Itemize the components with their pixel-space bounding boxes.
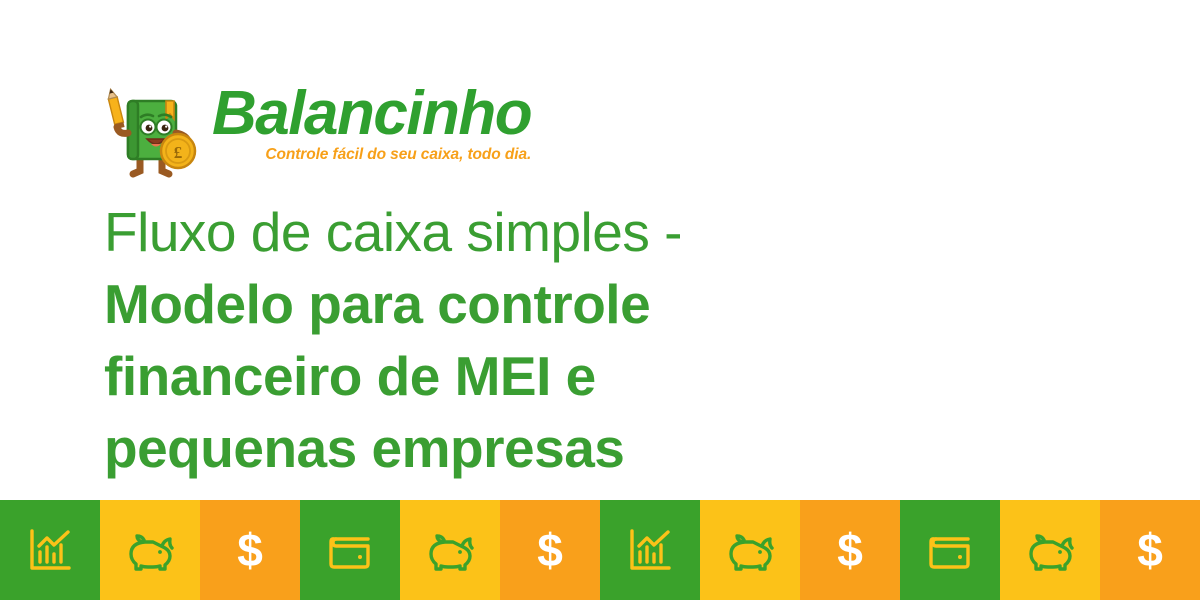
strip-tile-1 [100,500,200,600]
strip-tile-5: $ [500,500,600,600]
strip-tile-4 [400,500,500,600]
piggy-bank-icon [1024,524,1076,576]
strip-tile-2: $ [200,500,300,600]
strip-tile-0 [0,500,100,600]
wallet-icon [324,524,376,576]
wallet-icon [924,524,976,576]
wordmark-block: Balancinho Controle fácil do seu caixa, … [212,75,531,164]
dollar-sign-icon: $ [237,527,263,573]
page-title: Fluxo de caixa simples - Modelo para con… [104,196,824,484]
brand-lockup: £ Balancinho Controle fácil do seu caixa… [100,75,531,183]
strip-tile-8: $ [800,500,900,600]
headline-line-4: pequenas empresas [104,412,824,484]
strip-tile-3 [300,500,400,600]
brand-name: Balancinho [212,83,531,145]
dollar-sign-icon: $ [837,527,863,573]
poster-canvas: £ Balancinho Controle fácil do seu caixa… [0,0,1200,600]
bar-chart-icon [24,524,76,576]
strip-tile-7 [700,500,800,600]
piggy-bank-icon [724,524,776,576]
strip-tile-6 [600,500,700,600]
piggy-bank-icon [124,524,176,576]
dollar-sign-icon: $ [1137,527,1163,573]
headline-line-2: Modelo para controle [104,268,824,340]
svg-text:£: £ [174,143,183,162]
strip-tile-10 [1000,500,1100,600]
headline-line-3: financeiro de MEI e [104,340,824,412]
icon-strip: $$$$ [0,500,1200,600]
bar-chart-icon [624,524,676,576]
piggy-bank-icon [424,524,476,576]
strip-tile-11: $ [1100,500,1200,600]
strip-tile-9 [900,500,1000,600]
dollar-sign-icon: $ [537,527,563,573]
brand-tagline: Controle fácil do seu caixa, todo dia. [212,146,531,164]
headline-line-1: Fluxo de caixa simples - [104,196,824,268]
book-mascot-icon: £ [100,75,208,183]
